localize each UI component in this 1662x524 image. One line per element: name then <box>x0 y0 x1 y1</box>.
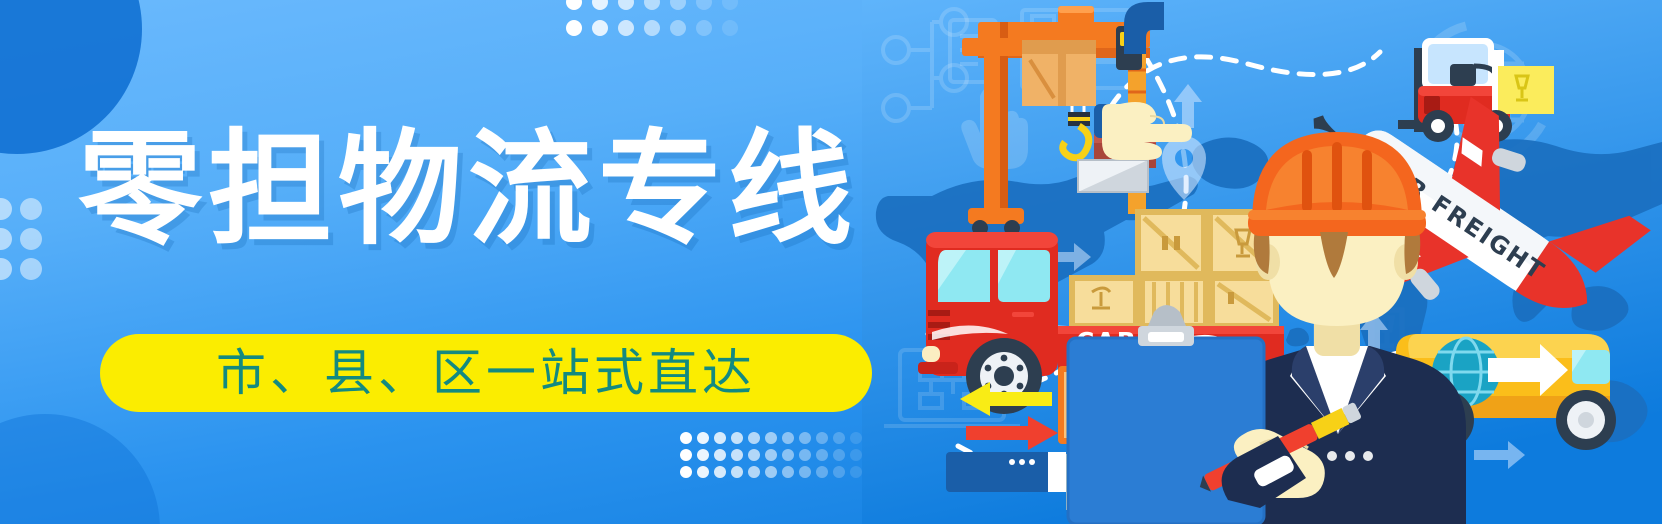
dot <box>714 432 726 444</box>
cardboard-carton <box>1022 40 1096 106</box>
dot <box>833 449 845 461</box>
dot <box>748 466 760 478</box>
bottom-dots-decoration <box>1327 451 1373 461</box>
dot <box>765 466 777 478</box>
dot <box>816 466 828 478</box>
dot <box>680 432 692 444</box>
dot <box>670 0 686 10</box>
corner-blob-bottom-decoration <box>0 414 160 524</box>
dot <box>618 0 634 10</box>
dot <box>765 449 777 461</box>
dot <box>618 20 634 36</box>
dot <box>714 449 726 461</box>
dot <box>697 449 709 461</box>
dot <box>592 20 608 36</box>
dot <box>20 228 42 250</box>
dot <box>697 432 709 444</box>
dot <box>833 466 845 478</box>
dot <box>0 228 12 250</box>
dot <box>850 432 862 444</box>
bottom-dot-grid-decoration <box>680 432 880 492</box>
dot <box>644 20 660 36</box>
dot <box>816 449 828 461</box>
dot <box>731 466 743 478</box>
banner-subtitle-pill: 市、县、区一站式直达 <box>100 334 872 412</box>
left-dot-grid-decoration <box>0 198 50 298</box>
dot <box>850 466 862 478</box>
dot <box>714 466 726 478</box>
dot <box>850 449 862 461</box>
dot <box>696 20 712 36</box>
dot <box>670 20 686 36</box>
banner-subtitle-text: 市、县、区一站式直达 <box>216 348 756 398</box>
dot <box>592 0 608 10</box>
dot <box>731 432 743 444</box>
dot <box>20 258 42 280</box>
dot <box>765 432 777 444</box>
dot <box>833 432 845 444</box>
dot <box>799 449 811 461</box>
dot <box>680 449 692 461</box>
promo-banner: CARGO DELIVERY <box>0 0 1662 524</box>
dot <box>731 449 743 461</box>
dot <box>20 198 42 220</box>
dot <box>0 198 12 220</box>
banner-headline: 零担物流专线 <box>78 128 858 252</box>
dot <box>680 466 692 478</box>
dot <box>748 449 760 461</box>
dot <box>782 449 794 461</box>
dot <box>566 20 582 36</box>
dot <box>799 432 811 444</box>
dot <box>799 466 811 478</box>
dot <box>722 20 738 36</box>
dot <box>722 0 738 10</box>
dot <box>782 466 794 478</box>
dot <box>748 432 760 444</box>
dot <box>644 0 660 10</box>
dot <box>816 432 828 444</box>
logistics-illustration: CARGO DELIVERY <box>862 0 1662 524</box>
top-dot-grid-decoration <box>566 0 746 40</box>
dot <box>566 0 582 10</box>
dot <box>697 466 709 478</box>
dot <box>782 432 794 444</box>
dot <box>0 258 12 280</box>
dot <box>696 0 712 10</box>
